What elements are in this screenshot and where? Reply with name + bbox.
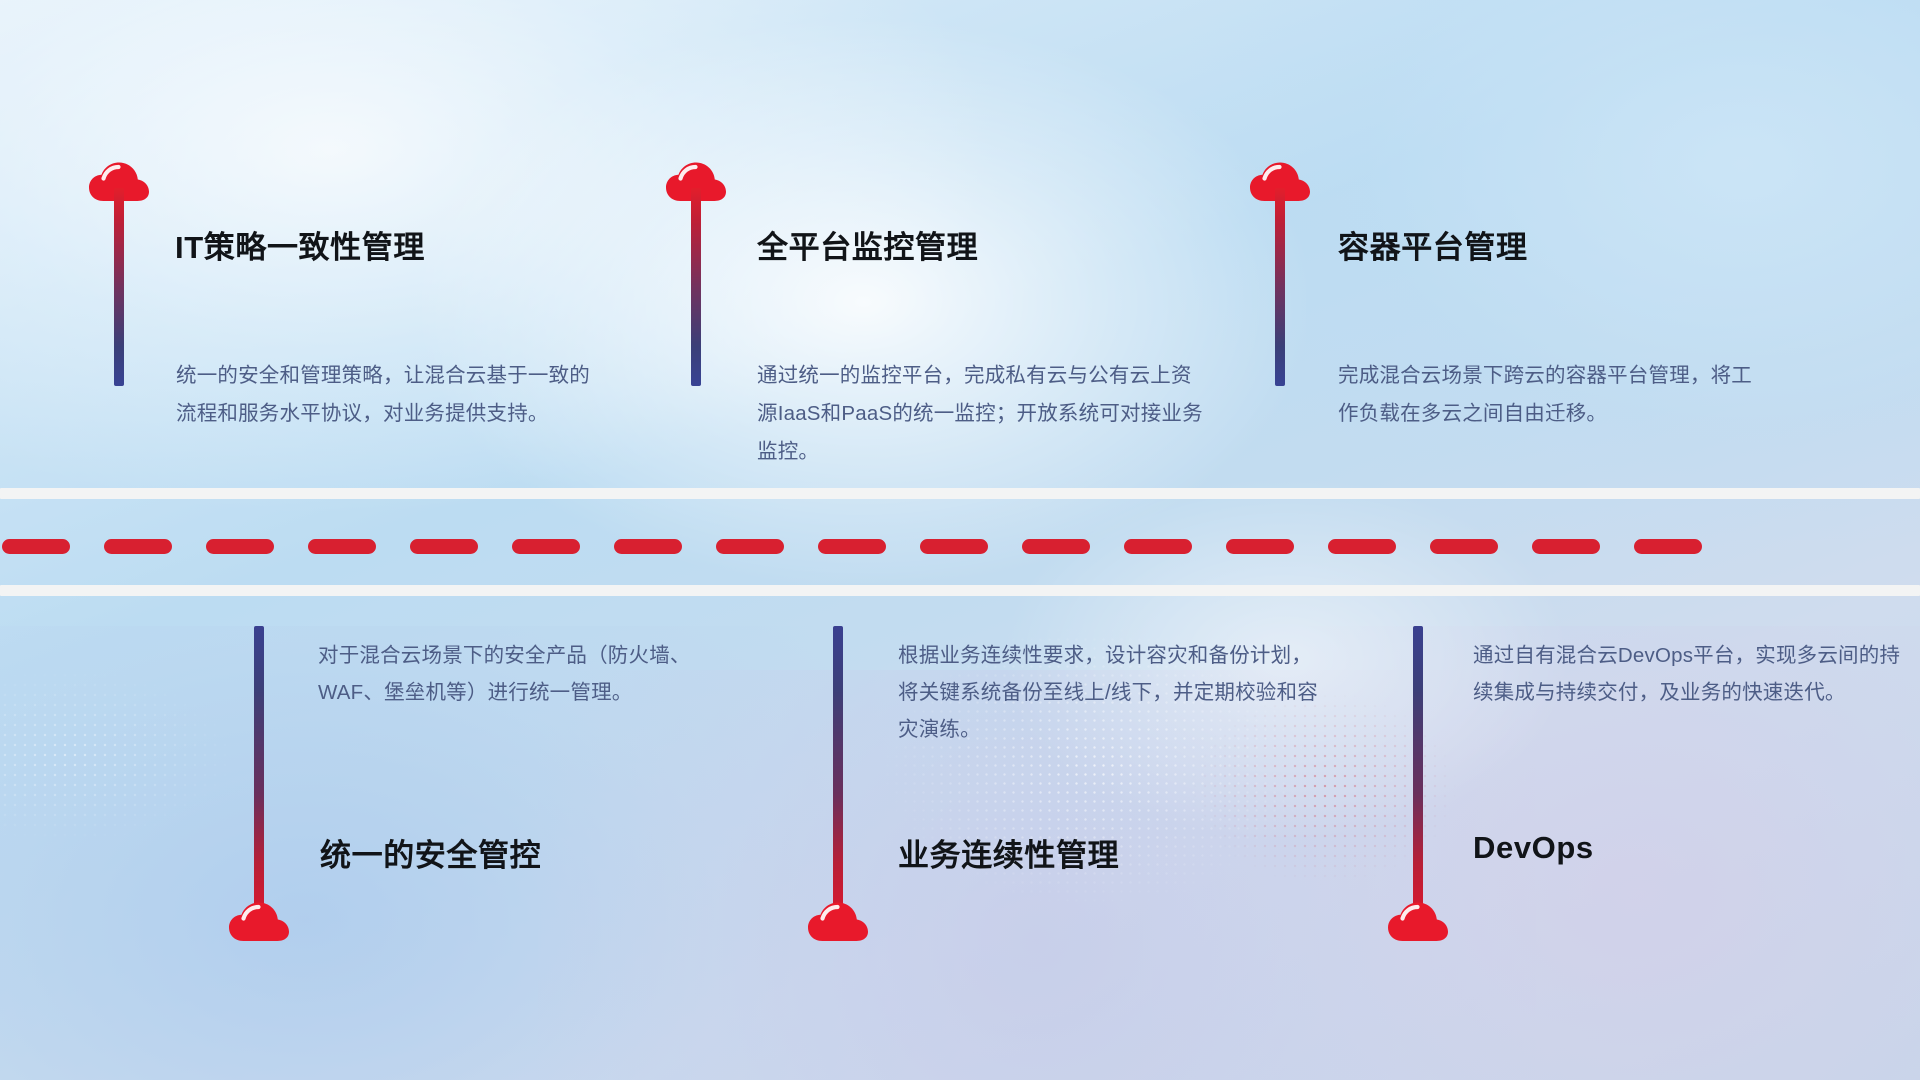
cloud-pin-icon <box>1386 898 1450 944</box>
road-dash <box>1532 539 1600 554</box>
road-dash <box>104 539 172 554</box>
background-dot-texture-left <box>0 670 230 843</box>
card-stem <box>1275 188 1285 386</box>
card-stem <box>833 626 843 916</box>
road-dash <box>1634 539 1702 554</box>
card-title: 业务连续性管理 <box>898 830 1119 875</box>
card-stem <box>1413 626 1423 916</box>
card-body: 完成混合云场景下跨云的容器平台管理，将工作负载在多云之间自由迁移。 <box>1338 357 1770 433</box>
road-dash <box>1226 539 1294 554</box>
road-dash-line <box>0 538 1920 554</box>
road-dash <box>1124 539 1192 554</box>
card-body: 通过统一的监控平台，完成私有云与公有云上资源IaaS和PaaS的统一监控；开放系… <box>757 357 1210 471</box>
card-body: 对于混合云场景下的安全产品（防火墙、WAF、堡垒机等）进行统一管理。 <box>318 637 746 711</box>
road-dash <box>308 539 376 554</box>
road-dash <box>818 539 886 554</box>
road-dash <box>920 539 988 554</box>
road-dash <box>614 539 682 554</box>
cloud-pin-icon <box>806 898 870 944</box>
card-title: DevOps <box>1473 830 1594 866</box>
road-dash <box>716 539 784 554</box>
road-dash <box>512 539 580 554</box>
road-dash <box>1430 539 1498 554</box>
road-dash <box>2 539 70 554</box>
cloud-pin-icon <box>227 898 291 944</box>
card-stem <box>114 188 124 386</box>
card-stem <box>691 188 701 386</box>
card-body: 通过自有混合云DevOps平台，实现多云间的持续集成与持续交付，及业务的快速迭代… <box>1473 637 1901 711</box>
road-dash <box>410 539 478 554</box>
road-dash <box>1022 539 1090 554</box>
background-glow-top-right <box>1190 0 1920 540</box>
card-body: 统一的安全和管理策略，让混合云基于一致的流程和服务水平协议，对业务提供支持。 <box>176 357 608 433</box>
road-dash <box>206 539 274 554</box>
card-title: IT策略一致性管理 <box>175 222 425 267</box>
road-dash <box>1328 539 1396 554</box>
card-stem <box>254 626 264 916</box>
card-body: 根据业务连续性要求，设计容灾和备份计划，将关键系统备份至线上/线下，并定期校验和… <box>898 637 1326 748</box>
card-title: 容器平台管理 <box>1338 222 1528 267</box>
road-edge-bottom <box>0 585 1920 596</box>
card-title: 统一的安全管控 <box>320 830 541 875</box>
road-edge-top <box>0 488 1920 499</box>
card-title: 全平台监控管理 <box>757 222 978 267</box>
road-divider <box>0 488 1920 596</box>
